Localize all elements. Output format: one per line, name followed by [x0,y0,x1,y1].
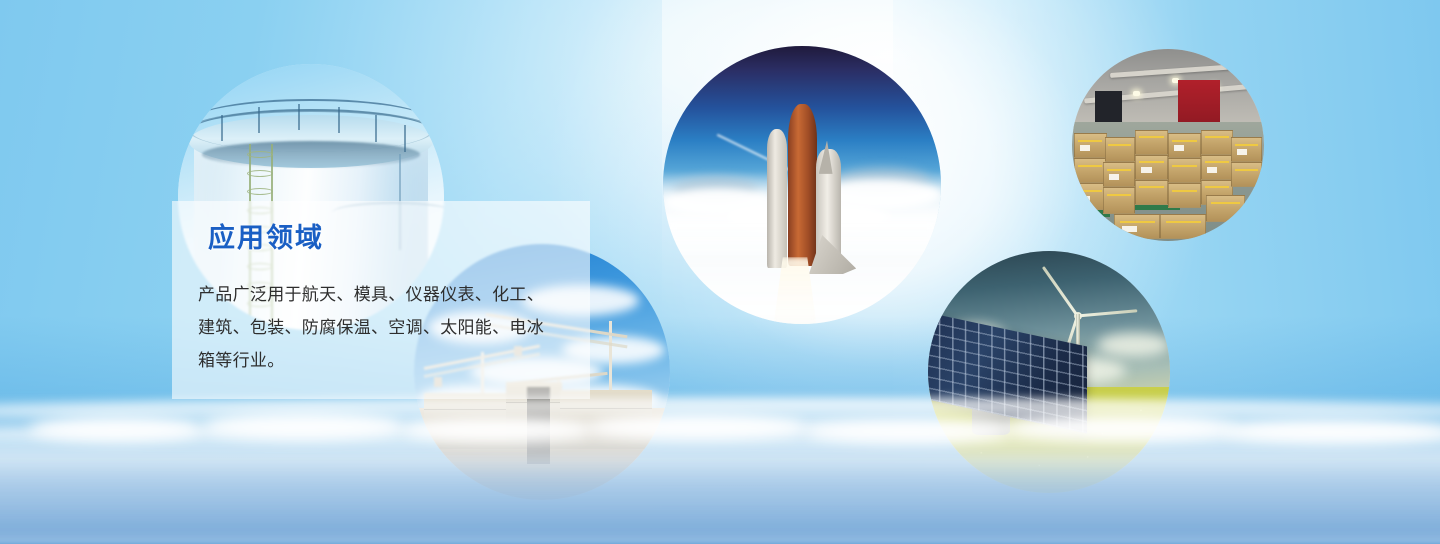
carton-box [1168,158,1201,183]
tank-railing-post [375,115,377,142]
cloud-bump [403,418,590,442]
external-fuel-tank [788,104,817,265]
cloud-bump [806,420,1008,444]
tank-railing-post [258,107,260,133]
page-title: 应用领域 [208,223,324,255]
banner-stage: 应用领域 产品广泛用于航天、模具、仪器仪表、化工、建筑、包装、防腐保温、空调、太… [0,0,1440,544]
dark-doorway [1095,91,1122,122]
cloud-bump [590,414,806,440]
carton-box [1135,155,1168,180]
carton-box [1074,158,1107,183]
carton-box [1074,133,1107,158]
cloud-bump [1008,414,1238,441]
carton-box [1074,183,1107,210]
carton-box [1168,183,1201,208]
carton-box [1201,155,1234,180]
tank-railing-post [338,107,340,133]
cloud-bump [202,412,404,440]
text-panel: 应用领域 产品广泛用于航天、模具、仪器仪表、化工、建筑、包装、防腐保温、空调、太… [172,201,590,399]
tank-railing-post [298,104,300,130]
carton-box [1135,180,1168,205]
tank-railing-post [221,115,223,141]
solid-rocket-booster [767,129,786,268]
carton-box [1135,130,1168,155]
carton-box [1168,133,1201,158]
carton-box [1105,137,1136,162]
carton-box [1231,162,1262,187]
ladder-rung [247,170,273,177]
carton-box [1160,214,1206,239]
cloud-bump [1224,419,1440,444]
image-warehouse [1072,49,1264,241]
ladder-rung [247,151,273,158]
carton-box [1201,130,1234,155]
image-space-shuttle [663,46,941,324]
carton-box [1103,187,1136,214]
warehouse-photo [1072,49,1264,241]
carton-box [1231,137,1262,162]
space-shuttle-photo [663,46,941,324]
carton-box [1206,195,1244,222]
tank-railing-post [404,125,406,152]
carton-box [1114,214,1160,239]
cloud-bump [29,416,202,442]
cloud-shadow [0,448,1440,544]
tank-railing-lower [191,109,430,154]
banner-description: 产品广泛用于航天、模具、仪器仪表、化工、建筑、包装、防腐保温、空调、太阳能、电冰… [198,279,560,378]
carton-box [1103,162,1136,187]
